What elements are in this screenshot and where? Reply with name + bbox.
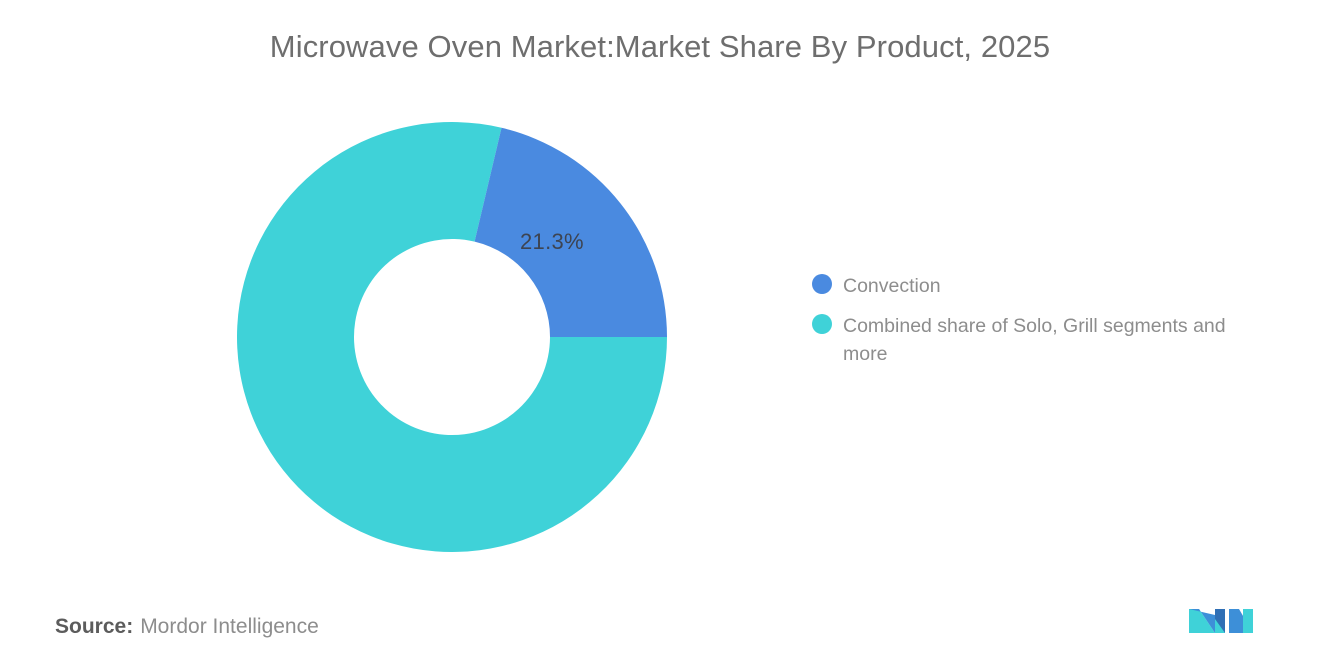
donut-chart (237, 122, 667, 552)
legend-item-combined-share[interactable]: Combined share of Solo, Grill segments a… (812, 312, 1262, 368)
page-title: Microwave Oven Market:Market Share By Pr… (0, 28, 1320, 65)
mordor-intelligence-logo-icon (1185, 599, 1257, 637)
legend-color-swatch-icon (812, 274, 832, 294)
legend-item-convection[interactable]: Convection (812, 272, 1262, 300)
slice-value-label: 21.3% (520, 229, 584, 255)
legend-item-label: Convection (843, 272, 941, 300)
chart-container: Microwave Oven Market:Market Share By Pr… (0, 0, 1320, 665)
legend-item-label: Combined share of Solo, Grill segments a… (843, 312, 1243, 368)
source-label: Source: (55, 615, 133, 638)
source-attribution: Source:Mordor Intelligence (55, 612, 319, 642)
chart-legend: Convection Combined share of Solo, Grill… (812, 272, 1262, 380)
source-value: Mordor Intelligence (140, 615, 319, 638)
donut-chart-svg (237, 122, 667, 552)
legend-color-swatch-icon (812, 314, 832, 334)
